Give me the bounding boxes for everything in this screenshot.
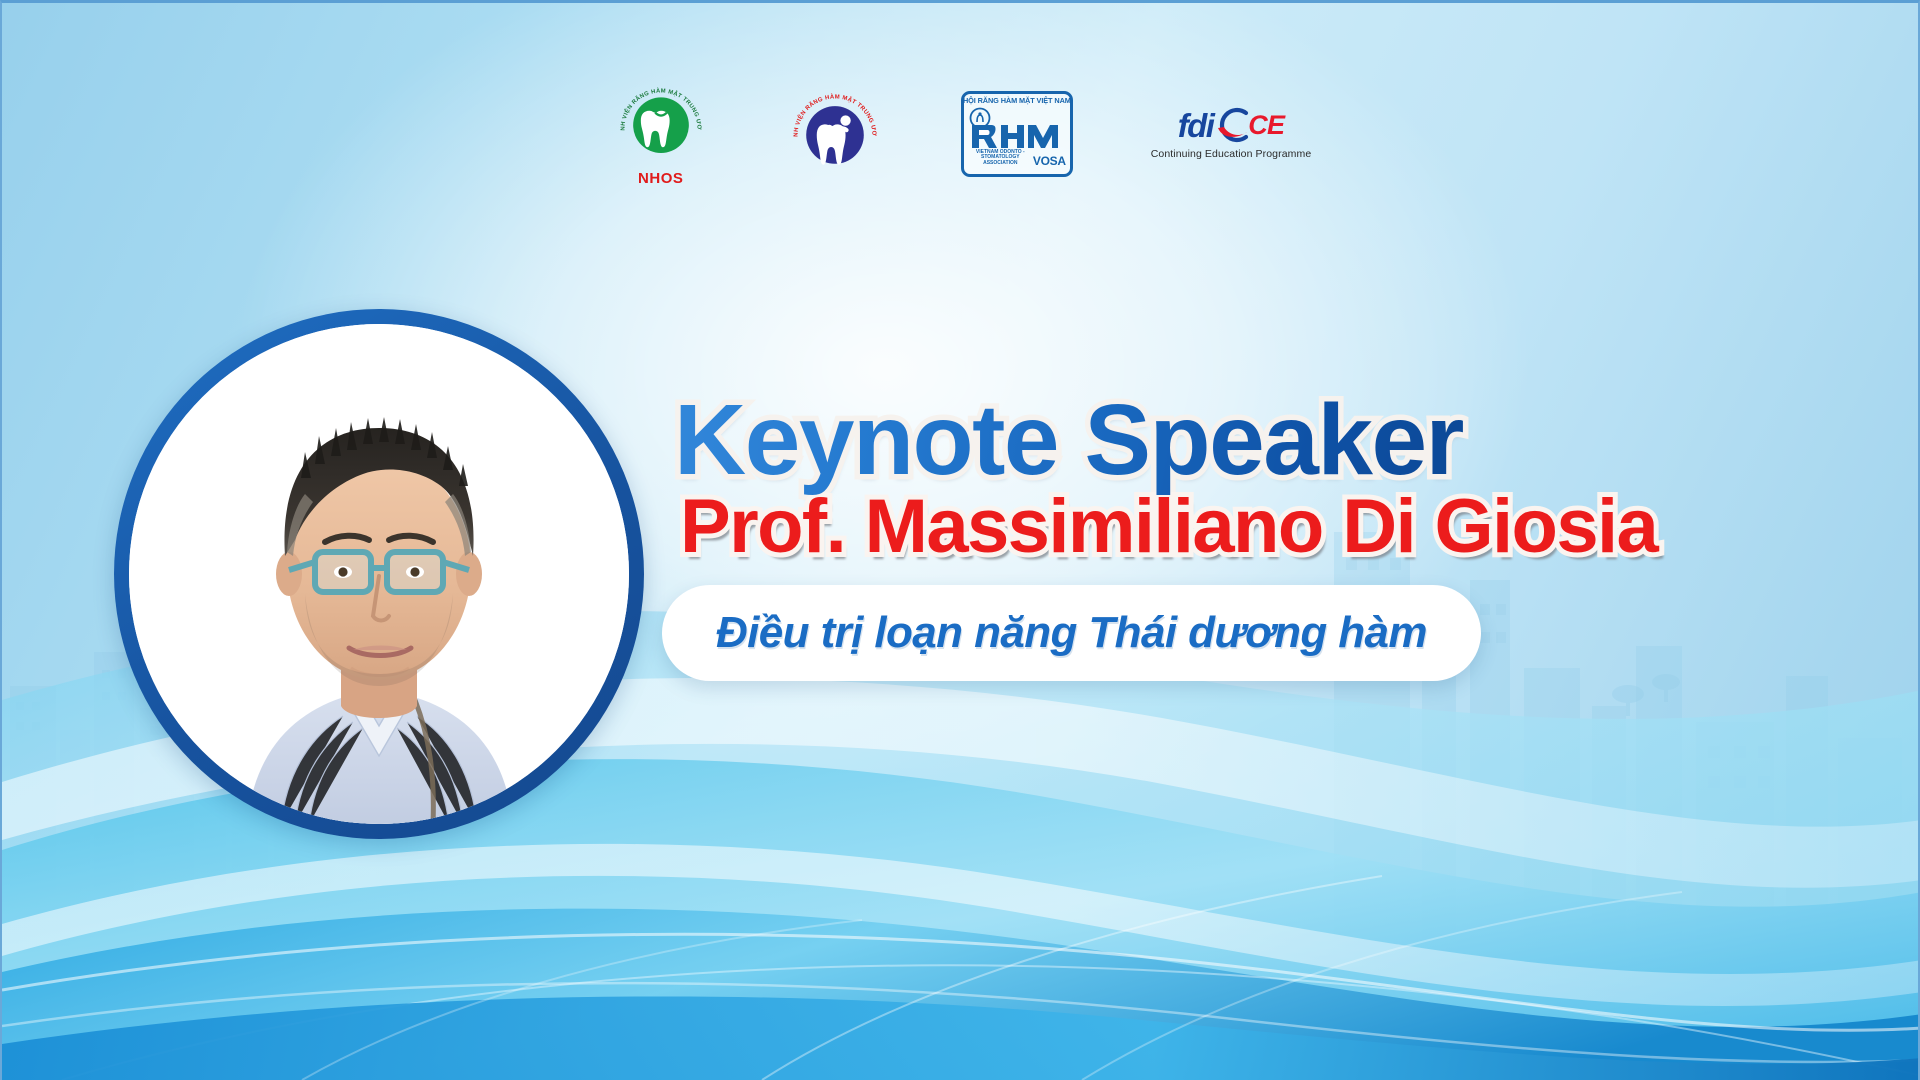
vosa-logo: HỘI RĂNG HÀM MẶT VIỆT NAM VIETNAM ODO <box>961 91 1073 177</box>
banner-canvas: BỆNH VIỆN RĂNG HÀM MẶT TRUNG ƯƠNG NHOS <box>0 0 1920 1080</box>
fdi-brand-text: fdi <box>1178 109 1214 142</box>
fdi-swoosh-icon <box>1210 107 1254 143</box>
vosa-monogram <box>967 105 1067 149</box>
vosa-assoc-line1: VIETNAM ODONTO - STOMATOLOGY <box>976 149 1025 161</box>
speaker-name-text: Prof. Massimiliano Di Giosia <box>680 484 1657 569</box>
vosa-association-text: VIETNAM ODONTO - STOMATOLOGY ASSOCIATION <box>968 150 1033 167</box>
speaker-headline-block: Keynote Speaker Keynote Speaker Prof. Ma… <box>692 389 1692 681</box>
vosa-top-text: HỘI RĂNG HÀM MẶT VIỆT NAM <box>963 97 1071 104</box>
keynote-title-text: Keynote Speaker <box>674 384 1463 496</box>
speaker-name: Prof. Massimiliano Di Giosia Prof. Massi… <box>680 487 1692 567</box>
fdi-tagline: Continuing Education Programme <box>1151 148 1312 160</box>
vosa-assoc-line2: ASSOCIATION <box>983 160 1017 166</box>
central-odonto-hospital-logo: BỆNH VIỆN RĂNG HÀM MẶT TRUNG ƯƠNG <box>787 86 883 182</box>
fdi-continuing-education-logo: fdi CE Continuing Education Programme <box>1151 107 1312 160</box>
nhos-logo: BỆNH VIỆN RĂNG HÀM MẶT TRUNG ƯƠNG NHOS <box>613 81 709 186</box>
vosa-acronym: VOSA <box>1033 155 1066 167</box>
avatar <box>129 324 629 824</box>
blue-circle-family-tooth-icon: BỆNH VIỆN RĂNG HÀM MẶT TRUNG ƯƠNG <box>787 86 883 182</box>
topic-text: Điều trị loạn năng Thái dương hàm <box>716 608 1427 658</box>
page-title: Keynote Speaker Keynote Speaker <box>674 389 1692 491</box>
green-tooth-icon: BỆNH VIỆN RĂNG HÀM MẶT TRUNG ƯƠNG <box>613 81 709 177</box>
speaker-portrait-frame <box>114 309 644 839</box>
partner-logo-strip: BỆNH VIỆN RĂNG HÀM MẶT TRUNG ƯƠNG NHOS <box>2 81 1920 186</box>
topic-badge: Điều trị loạn năng Thái dương hàm <box>662 585 1481 681</box>
